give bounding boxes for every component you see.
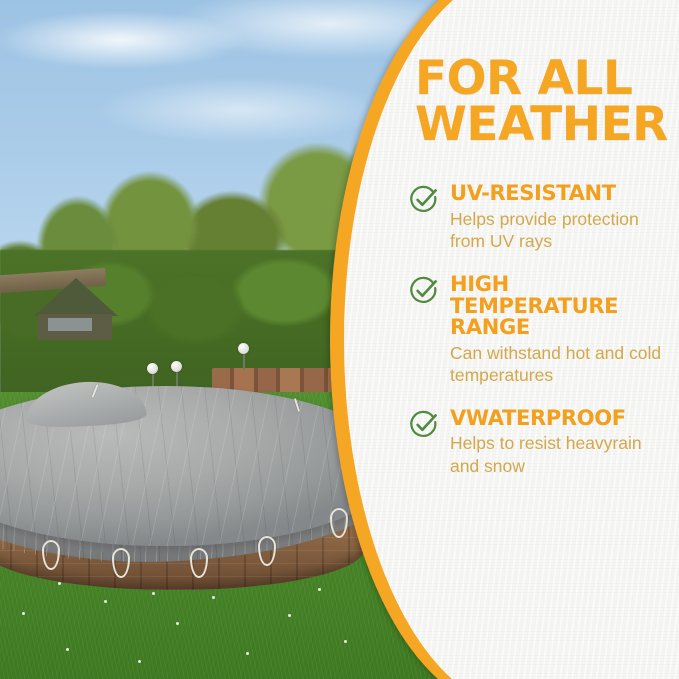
daisy (176, 622, 179, 625)
garden-shed-gable (34, 278, 118, 316)
list-item: VWATERPROOF Helps to resist heavyrain an… (409, 408, 679, 499)
feature-list: UV-RESISTANT Helps provide protection fr… (409, 147, 679, 498)
product-feature-banner: FOR ALL WEATHER UV-RESISTANT Helps provi… (0, 0, 679, 679)
daisy (246, 652, 249, 655)
feature-title: VWATERPROOF (450, 408, 675, 430)
daisy (104, 600, 107, 603)
daisy (344, 640, 347, 643)
feature-description: Can withstand hot and cold temperatures (450, 342, 675, 386)
garden-lamp-stem (243, 352, 245, 370)
garden-shed-window (48, 318, 92, 331)
check-circle-icon (409, 410, 439, 440)
daisy (288, 614, 291, 617)
daisy (152, 592, 155, 595)
list-item: UV-RESISTANT Helps provide protection fr… (409, 183, 679, 274)
daisy (138, 660, 141, 663)
panel-content: FOR ALL WEATHER UV-RESISTANT Helps provi… (409, 0, 679, 679)
daisy (58, 582, 61, 585)
feature-text: HIGH TEMPERATURE RANGE Can withstand hot… (450, 274, 675, 386)
garden-lamp-globe (171, 361, 182, 372)
feature-title: HIGH TEMPERATURE RANGE (450, 274, 675, 339)
page-title: FOR ALL WEATHER (409, 0, 679, 147)
feature-text: VWATERPROOF Helps to resist heavyrain an… (450, 408, 675, 477)
feature-text: UV-RESISTANT Helps provide protection fr… (450, 183, 675, 252)
list-item: HIGH TEMPERATURE RANGE Can withstand hot… (409, 274, 679, 408)
feature-title: UV-RESISTANT (450, 183, 675, 205)
garden-lamp-globe (147, 363, 158, 374)
check-circle-icon (409, 185, 439, 215)
garden-lamp-globe (238, 343, 249, 354)
check-circle-icon (409, 276, 439, 306)
feature-description: Helps to resist heavyrain and snow (450, 432, 675, 476)
daisy (66, 648, 69, 651)
feature-description: Helps provide protection from UV rays (450, 208, 675, 252)
daisy (22, 612, 25, 615)
daisy (212, 596, 215, 599)
daisy (318, 588, 321, 591)
